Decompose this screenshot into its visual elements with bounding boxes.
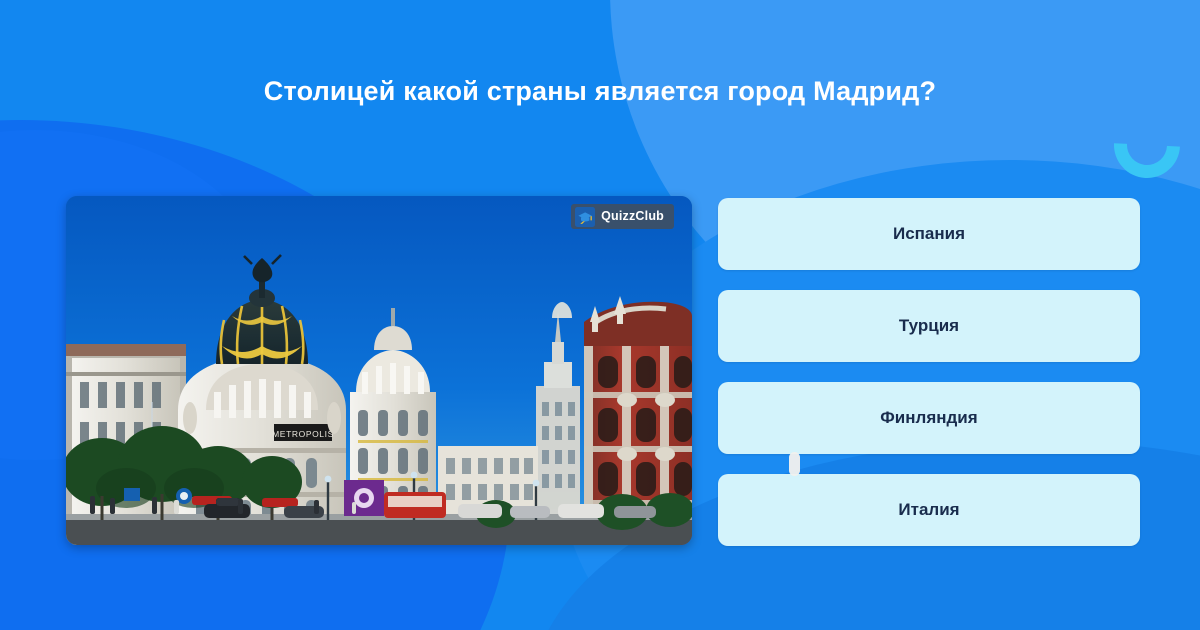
answer-option-4-label: Италия (898, 500, 959, 520)
question-title: Столицей какой страны является город Мад… (0, 76, 1200, 107)
madrid-gran-via-photo: METROPOLIS (66, 196, 692, 545)
quiz-card: Столицей какой страны является город Мад… (0, 0, 1200, 630)
cursor-indicator (789, 452, 800, 476)
answer-option-2-label: Турция (899, 316, 959, 336)
answer-option-3-label: Финляндия (880, 408, 977, 428)
answer-option-4[interactable]: Италия (718, 474, 1140, 546)
answer-option-3[interactable]: Финляндия (718, 382, 1140, 454)
quizzclub-watermark: QuizzClub (571, 204, 674, 229)
question-image-card: METROPOLIS (66, 196, 692, 545)
graduation-cap-icon (575, 207, 595, 227)
answer-option-1[interactable]: Испания (718, 198, 1140, 270)
answer-options-list: Испания Турция Финляндия Италия (718, 198, 1140, 546)
watermark-label: QuizzClub (601, 210, 664, 223)
answer-option-2[interactable]: Турция (718, 290, 1140, 362)
svg-text:METROPOLIS: METROPOLIS (272, 429, 334, 439)
answer-option-1-label: Испания (893, 224, 965, 244)
